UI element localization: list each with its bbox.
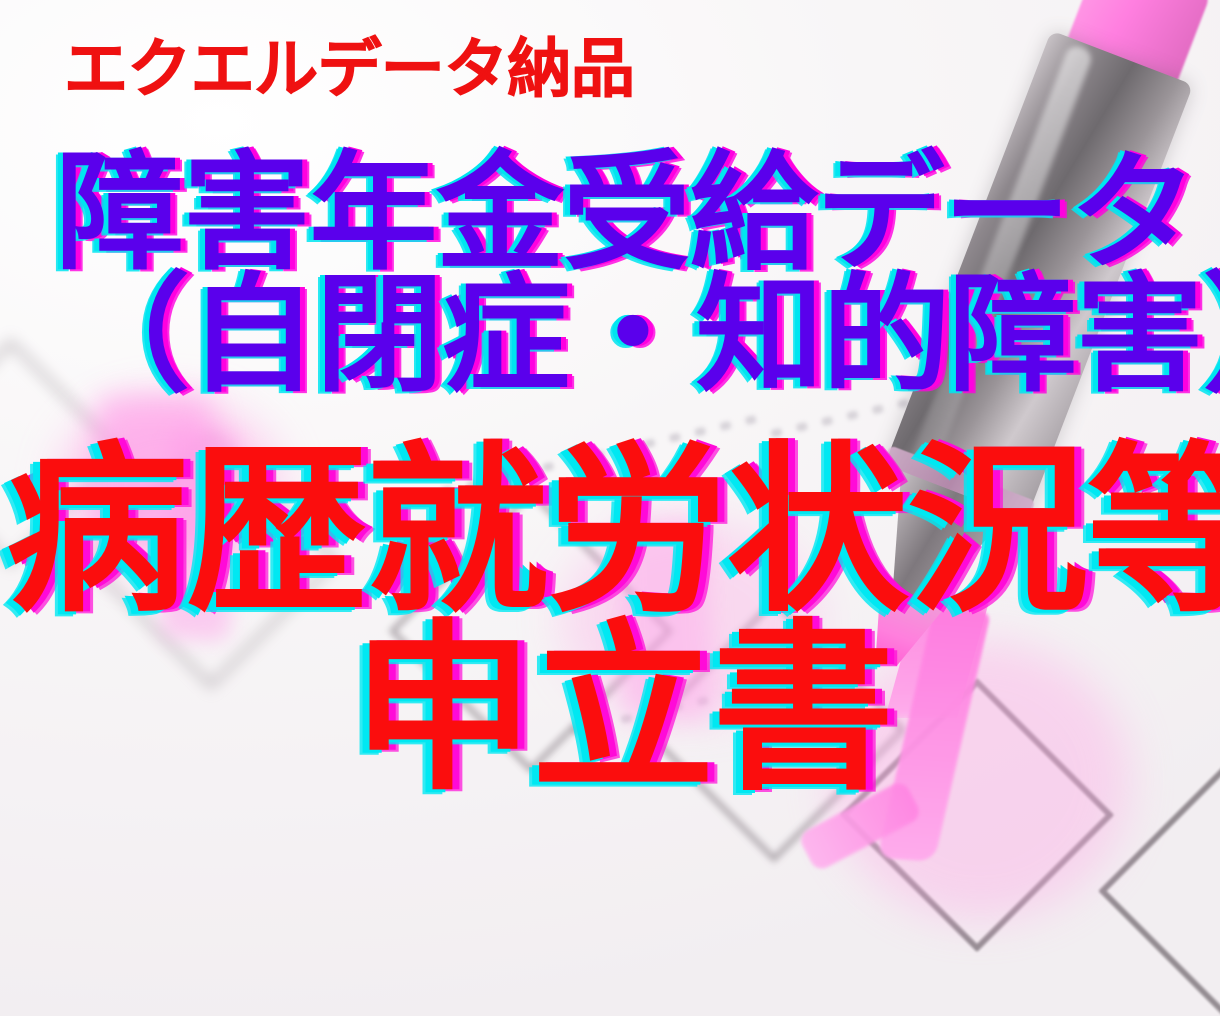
subtitle-line-2: 申立書 bbox=[352, 618, 893, 800]
subtitle-line-1: 病歴就労状況等 bbox=[6, 440, 1220, 622]
title-line-2: （自閉症・知的障害） bbox=[62, 272, 1220, 400]
headline-text-layer: エクエルデータ納品 障害年金受給データ （自閉症・知的障害） 病歴就労状況等 申… bbox=[0, 0, 1220, 1016]
title-line-1: 障害年金受給データ bbox=[56, 150, 1196, 278]
eyebrow-text: エクエルデータ納品 bbox=[64, 38, 634, 102]
poster-canvas: エクエルデータ納品 障害年金受給データ （自閉症・知的障害） 病歴就労状況等 申… bbox=[0, 0, 1220, 1016]
